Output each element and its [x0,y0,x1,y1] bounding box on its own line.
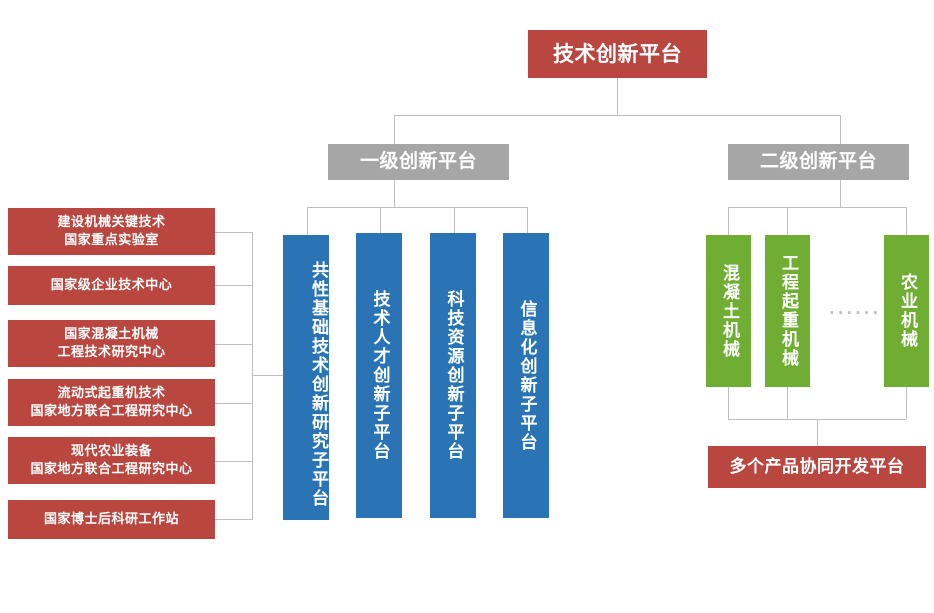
connector-to-subplatform-2 [380,207,381,235]
product-platform-engineering-crane[interactable]: 工程起重机械 [765,235,810,387]
level1-node-primary-innovation-platform[interactable]: 一级创新平台 [328,144,509,180]
national-platform-item-4-line2: 国家地方联合工程研究中心 [30,403,192,421]
sub-platform-1-label: 共性基础技术创新研究子平台 [306,261,329,508]
connector-to-subplatform-1 [307,207,308,235]
connector-product-3-down [906,387,907,419]
national-platform-item-5-line1: 现代农业装备 [71,443,152,461]
national-platform-item-1[interactable]: 建设机械关键技术 国家重点实验室 [8,208,215,255]
connector-to-product-2 [787,207,788,235]
connector-level1-down [394,180,395,207]
sub-platform-technical-talent[interactable]: 技术人才创新子平台 [356,233,402,518]
level2-node-secondary-innovation-platform[interactable]: 二级创新平台 [728,144,909,180]
sub-platform-science-tech-resources[interactable]: 科技资源创新子平台 [430,233,476,518]
national-platform-item-1-line2: 国家重点实验室 [64,232,159,250]
connector-national-6 [215,519,253,520]
national-platform-item-3-line1: 国家混凝土机械 [64,326,159,344]
product-platform-concrete-machinery[interactable]: 混凝土机械 [706,235,751,387]
connector-national-2 [215,285,253,286]
connector-to-subplatform-4 [527,207,528,235]
national-platform-item-4[interactable]: 流动式起重机技术 国家地方联合工程研究中心 [8,379,215,426]
connector-national-spine-to-subplatform [252,375,283,376]
connector-national-4 [215,403,253,404]
national-platform-item-5-line2: 国家地方联合工程研究中心 [30,461,192,479]
connector-to-level1 [394,115,395,144]
root-node-technology-innovation-platform[interactable]: 技术创新平台 [528,30,707,78]
national-platform-item-2[interactable]: 国家级企业技术中心 [8,266,215,305]
collaboration-platform-node[interactable]: 多个产品协同开发平台 [708,446,926,488]
sub-platform-informatization[interactable]: 信息化创新子平台 [503,233,549,518]
sub-platform-common-base-technology[interactable]: 共性基础技术创新研究子平台 [283,235,329,520]
national-platform-item-3[interactable]: 国家混凝土机械 工程技术研究中心 [8,320,215,367]
national-platform-item-6[interactable]: 国家博士后科研工作站 [8,500,215,539]
sub-platform-2-label: 技术人才创新子平台 [368,290,391,461]
connector-root-down [617,78,618,115]
connector-green-distribution-bar [728,207,906,208]
product-platform-2-label: 工程起重机械 [776,254,799,368]
product-platform-ellipsis: ...... [829,300,881,318]
connector-to-product-3 [906,207,907,235]
national-platform-item-6-line1: 国家博士后科研工作站 [44,511,179,529]
national-platform-item-4-line1: 流动式起重机技术 [57,385,165,403]
connector-to-subplatform-3 [454,207,455,235]
connector-level2-down [840,180,841,207]
national-platform-item-2-line1: 国家级企业技术中心 [51,277,173,295]
connector-national-bracket-spine [252,232,253,520]
connector-product-2-down [787,387,788,419]
connector-to-level2 [840,115,841,144]
national-platform-item-1-line1: 建设机械关键技术 [57,214,165,232]
connector-national-3 [215,344,253,345]
product-platform-agricultural-machinery[interactable]: 农业机械 [884,235,929,387]
sub-platform-3-label: 科技资源创新子平台 [442,290,465,461]
connector-level-split-bar [394,115,840,116]
product-platform-1-label: 混凝土机械 [717,264,740,359]
level2-node-label: 二级创新平台 [760,149,877,175]
product-platform-3-label: 农业机械 [895,273,918,349]
root-node-label: 技术创新平台 [553,40,682,68]
national-platform-item-5[interactable]: 现代农业装备 国家地方联合工程研究中心 [8,437,215,484]
national-platform-item-3-line2: 工程技术研究中心 [57,344,165,362]
collaboration-platform-label: 多个产品协同开发平台 [730,456,905,479]
sub-platform-4-label: 信息化创新子平台 [515,300,538,452]
connector-national-5 [215,461,253,462]
org-chart-canvas: 技术创新平台 一级创新平台 二级创新平台 建设机械关键技术 国家重点实验室 国家… [0,0,934,613]
connector-blue-distribution-bar [307,207,527,208]
connector-to-product-1 [728,207,729,235]
connector-product-1-down [728,387,729,419]
level1-node-label: 一级创新平台 [360,149,477,175]
connector-national-1 [215,232,253,233]
connector-collaboration-down [817,419,818,446]
